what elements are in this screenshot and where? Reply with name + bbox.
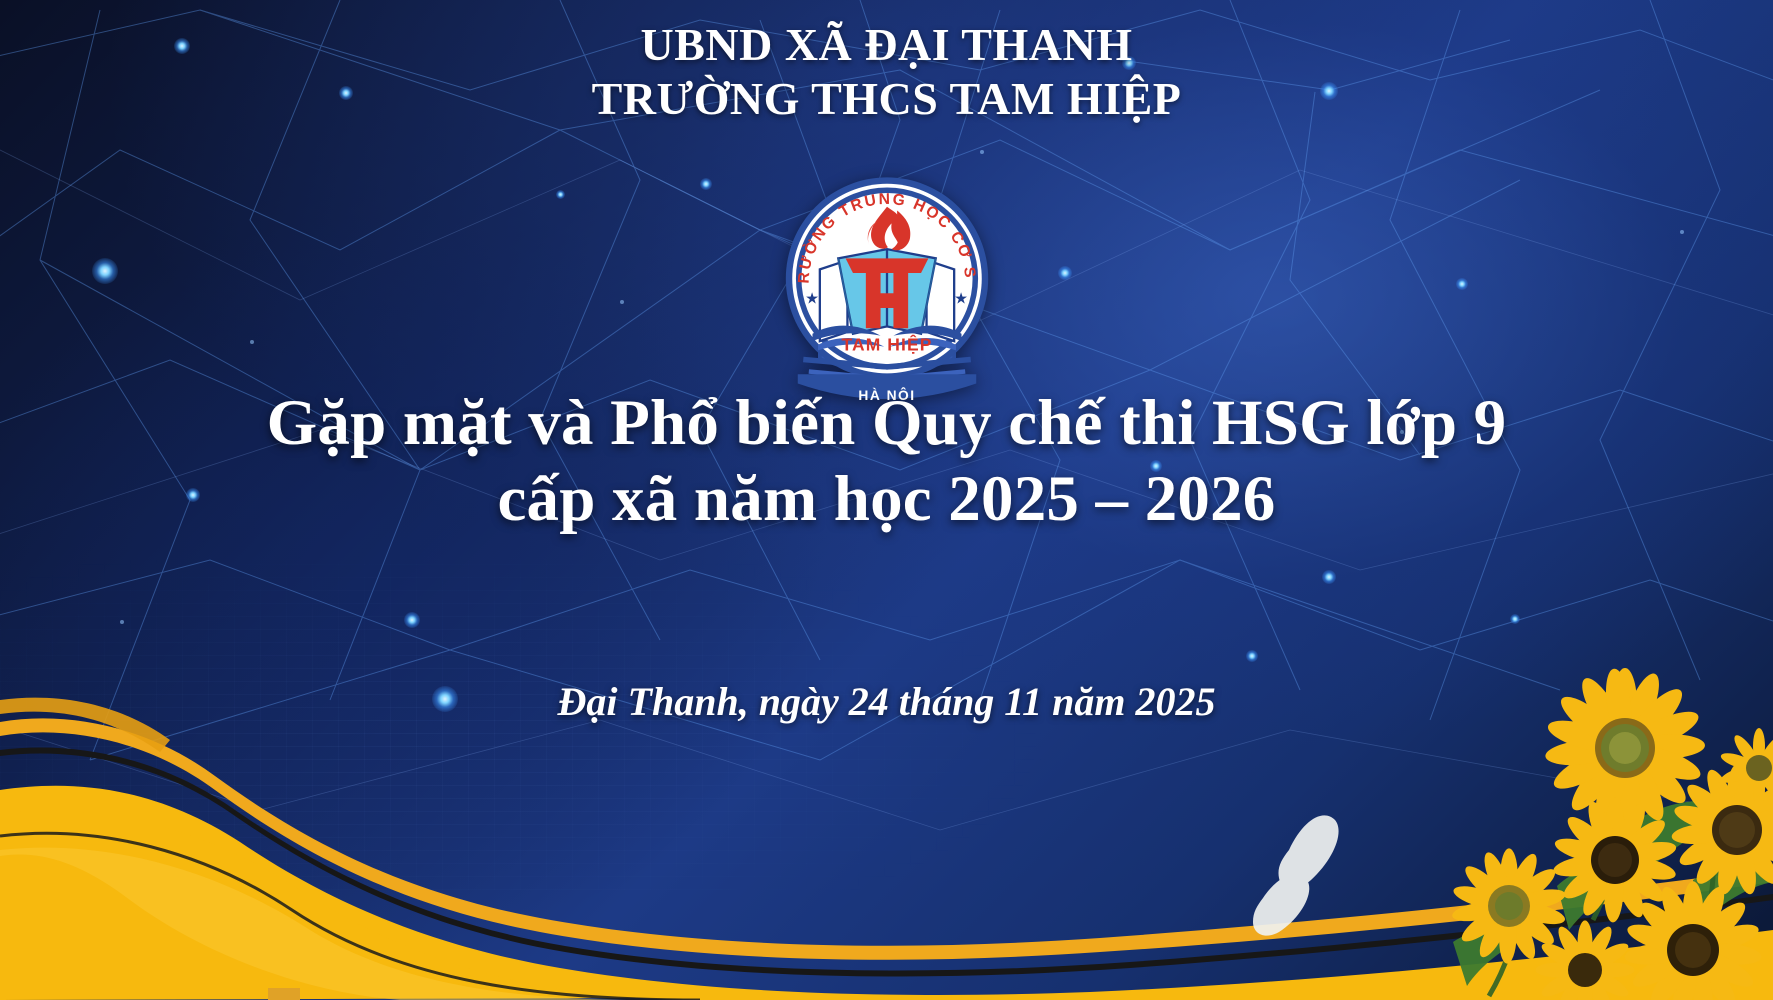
logo-school-name: TAM HIỆP <box>841 333 932 354</box>
logo-star-left: ★ <box>805 290 819 307</box>
main-title-line-1: Gặp mặt và Phổ biến Quy chế thi HSG lớp … <box>0 385 1773 461</box>
header-line-2: TRƯỜNG THCS TAM HIỆP <box>0 72 1773 126</box>
header-block: UBND XÃ ĐẠI THANH TRƯỜNG THCS TAM HIỆP <box>0 18 1773 127</box>
date-line: Đại Thanh, ngày 24 tháng 11 năm 2025 <box>0 678 1773 725</box>
presentation-slide: UBND XÃ ĐẠI THANH TRƯỜNG THCS TAM HIỆP T… <box>0 0 1773 1000</box>
school-logo: TRƯỜNG TRUNG HỌC CƠ SỞ ★ ★ <box>772 170 1002 400</box>
main-title-block: Gặp mặt và Phổ biến Quy chế thi HSG lớp … <box>0 385 1773 537</box>
logo-star-right: ★ <box>954 290 968 307</box>
header-line-1: UBND XÃ ĐẠI THANH <box>0 18 1773 72</box>
main-title-line-2: cấp xã năm học 2025 – 2026 <box>0 461 1773 537</box>
